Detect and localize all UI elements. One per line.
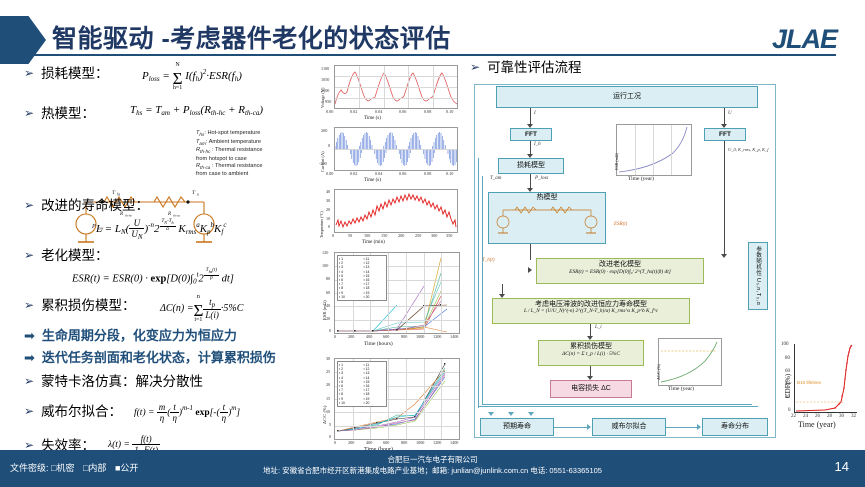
bullet-label: 累积损伤模型： — [41, 298, 136, 313]
inset-chart-xlabel: Time (year) — [628, 176, 654, 182]
edge-label-harmonics: I_h — [534, 142, 541, 147]
edge-label-tam: T_am — [490, 176, 501, 181]
connector — [666, 427, 700, 428]
flow-box-label: 热模型 — [489, 193, 605, 202]
company-name: 合肥巨一汽车电子有限公司 — [0, 454, 865, 465]
bullet-cumulative-damage-model: ➢ 累积损伤模型： — [24, 298, 136, 313]
legend-line-ths: Ths: Hot-spot temperature — [196, 130, 308, 139]
bullet-label: 生命周期分段，化变应力为恒应力 — [42, 328, 237, 343]
chart-plot-area: ▪ 1▪ 11 ▪ 2▪ 12 ▪ 3▪ 13 ▪ 4▪ 14 ▪ 5▪ 15 … — [334, 358, 460, 440]
flow-box-formula: ESR(t) = ESR(0) · exp[D(0)∫₀ᵗ 2^(T_hs(t)… — [537, 269, 703, 275]
esr-chart-legend: ▪ 1▪ 11 ▪ 2▪ 12 ▪ 3▪ 13 ▪ 4▪ 14 ▪ 5▪ 15 … — [337, 255, 387, 301]
formula-loss-model: Ploss = NΣh=1 I(fh)2·ESR(fh) — [142, 62, 242, 91]
bullet-thermal-model: ➢ 热模型： — [24, 106, 95, 121]
page-title: 智能驱动 -考虑器件老化的状态评估 — [52, 19, 451, 55]
cdf-curve — [795, 344, 857, 412]
formula-improved-life: L = LN(UUN)-n2TN-Thα KrmsaKpbKfc — [96, 218, 226, 241]
arrow-head-icon — [528, 267, 532, 273]
flow-box-improved-life-model[interactable]: 考虑电压滞波的改进恒应力寿命模型 L / L_N = (U/U_N)^(-n) … — [492, 298, 690, 324]
bullet-lifecycle-segmentation: ➡ 生命周期分段，化变应力为恒应力 — [24, 328, 237, 343]
flow-box-operating-condition[interactable]: 运行工况 — [496, 86, 758, 108]
flow-box-life-distribution[interactable]: 寿命分布 — [702, 418, 768, 436]
inset-chart-dcc-year — [658, 338, 722, 386]
bullet-label: 老化模型： — [41, 248, 109, 263]
bullet-loss-model: ➢ 损耗模型： — [24, 66, 109, 81]
chart-voltage-waveform: Voltage (V) 1100 1050 1000 950 0.00 0.02… — [312, 62, 462, 124]
chart-cdf-lifetime: CDF(%) B10 lifetime 100 80 60 40 20 0 22 — [780, 340, 860, 440]
flow-box-weibull-fit[interactable]: 威布尔拟合 — [592, 418, 666, 436]
company-logo: JLAE — [772, 24, 837, 55]
bullet-label: 可靠性评估流程 — [487, 60, 582, 75]
title-divider — [28, 54, 836, 56]
chart-esr-degradation: ESR (mΩ) — [312, 248, 464, 352]
connector — [554, 427, 590, 428]
arrow-head-icon — [488, 412, 494, 416]
middle-chart-column: Voltage (V) 1100 1050 1000 950 0.00 0.02… — [312, 62, 464, 450]
bullet-monte-carlo: ➢ 蒙特卡洛仿真：解决分散性 — [24, 374, 203, 389]
inset-chart-ylabel: ESR (mΩ) — [614, 153, 619, 170]
formula-aging-model: ESR(t) = ESR(0) · exp[D(0)∫0t2Ths(t)β dt… — [72, 268, 234, 285]
svg-text:T: T — [112, 190, 116, 196]
flow-box-label: 累积损伤模型 — [539, 343, 643, 351]
title-arrow-shape — [0, 16, 46, 64]
svg-text:T: T — [192, 190, 196, 196]
bullet-marker-icon: ➢ — [470, 60, 480, 75]
chart-plot-area — [334, 127, 458, 171]
flow-box-formula: L / L_N = (U/U_N)^(-n) 2^((T_N-T_h)/α) K… — [493, 309, 689, 315]
legend-line-tam: Tam: Ambient temperature — [196, 139, 308, 148]
bullet-weibull-fit: ➢ 威布尔拟合： — [24, 404, 122, 419]
edge-label-esr-t: ESR(t) — [614, 222, 627, 227]
bullet-label: 迭代任务剖面和老化状态，计算累积损伤 — [42, 350, 276, 365]
slide-footer: 文件密级: □机密 □内部 ■公开 合肥巨一汽车电子有限公司 地址: 安徽省合肥… — [0, 450, 865, 487]
bullet-iterative-mission-profile: ➡ 迭代任务剖面和老化状态，计算累积损伤 — [24, 350, 276, 365]
formula-cumulative-damage: ΔC(n) =nΣi=1tpL(i)·5%C — [160, 294, 243, 323]
flow-box-thermal-model[interactable]: 热模型 — [488, 192, 606, 244]
connector — [530, 244, 531, 260]
svg-text:hs: hs — [117, 193, 121, 197]
slide-header: 智能驱动 -考虑器件老化的状态评估 JLAE — [0, 16, 865, 64]
chart-xlabel: Time (s) — [364, 178, 381, 183]
chart-current-waveform: Current (A) 200 0 -200 0.00 0.02 0.04 0.… — [312, 124, 462, 186]
cdf-annotation: B10 lifetime — [797, 380, 821, 385]
arrow-head-icon — [721, 254, 727, 258]
flow-box-expected-life[interactable]: 预期寿命 — [480, 418, 554, 436]
company-info: 合肥巨一汽车电子有限公司 地址: 安徽省合肥市经开区新港集成电路产业基地；邮箱:… — [0, 454, 865, 476]
thermal-circuit-legend: Ths: Hot-spot temperature Tam: Ambient t… — [196, 130, 308, 179]
formula-thermal-model: Ths = Tam + Ploss(Rth-hc + Rth-ca) — [130, 104, 263, 117]
legend-line-rhc2: from hotspot to case — [196, 156, 308, 163]
svg-text:th-ca: th-ca — [173, 213, 180, 217]
feedback-rail — [482, 404, 752, 405]
edge-label-current: I — [534, 111, 536, 116]
flow-box-formula: ΔC(n) = Σ t_p / L(i) · 5%C — [539, 351, 643, 357]
bullet-improved-life-model: ➢ 改进的寿命模型： — [24, 198, 149, 213]
chart-xlabel: Time (s) — [364, 116, 381, 121]
bullet-label: 威布尔拟合： — [41, 404, 122, 419]
chart-xlabel: Time (year) — [798, 420, 836, 429]
temperature-trace — [335, 190, 457, 232]
flow-box-cumulative-damage[interactable]: 累积损伤模型 ΔC(n) = Σ t_p / L(i) · 5%C — [538, 340, 644, 366]
arrow-head-icon — [508, 412, 514, 416]
chart-xlabel: Time (hours) — [364, 341, 393, 347]
legend-line-rhc: Rth-hc : Thermal resistance — [196, 147, 308, 156]
bullet-marker-icon: ➢ — [24, 198, 34, 213]
left-content-column: ➢ 损耗模型： Ploss = NΣh=1 I(fh)2·ESR(fh) ➢ 热… — [24, 62, 312, 444]
flow-box-parameter-randomness[interactable]: 参数随机性 U₀,n,T₀,α — [748, 242, 768, 310]
chart-plot-area — [334, 65, 458, 109]
chart-plot-area: B10 lifetime — [794, 344, 857, 413]
formula-weibull: f(t) = mη(tη)m-1 exp[-(tη)m] — [134, 402, 240, 424]
bullet-marker-icon: ➢ — [24, 106, 34, 121]
dcc-chart-legend: ▪ 1▪ 11 ▪ 2▪ 12 ▪ 3▪ 13 ▪ 4▪ 14 ▪ 5▪ 15 … — [337, 361, 387, 407]
svg-text:R: R — [167, 212, 171, 217]
legend-line-rca: Rth-ca : Thermal resistance — [196, 163, 308, 172]
arrow-right-icon: ➡ — [24, 350, 35, 365]
inset-chart-esr-year — [616, 124, 692, 176]
inset-esr-curve — [617, 125, 691, 175]
arrow-head-icon — [587, 424, 591, 430]
edge-label-th-t: T_h(t) — [482, 258, 495, 263]
bullet-reliability-process: ➢ 可靠性评估流程 — [470, 60, 582, 75]
bullet-label: 改进的寿命模型： — [41, 198, 149, 213]
bullet-marker-icon: ➢ — [24, 298, 34, 313]
bullet-label: 损耗模型： — [41, 66, 109, 81]
chart-ylabel: Temperature (°C) — [320, 211, 324, 238]
bullet-marker-icon: ➢ — [24, 248, 34, 263]
arrow-right-icon: ➡ — [24, 328, 35, 343]
svg-text:a: a — [197, 193, 199, 197]
chart-temperature-profile: Temperature (°C) 40 30 20 10 0 0 50 100 … — [312, 186, 462, 248]
bullet-label: 热模型： — [41, 106, 95, 121]
arrow-head-icon — [697, 424, 701, 430]
flow-box-improved-aging-model[interactable]: 改进老化模型 ESR(t) = ESR(0) · exp[D(0)∫₀ᵗ 2^(… — [536, 258, 704, 284]
svg-text:th-hc: th-hc — [125, 213, 132, 217]
edge-label-ploss: P_loss — [535, 176, 548, 181]
bullet-marker-icon: ➢ — [24, 404, 34, 419]
inset-chart-xlabel: Time (year) — [668, 386, 694, 392]
feedback-rail — [478, 158, 479, 408]
bullet-marker-icon: ➢ — [24, 374, 34, 389]
chart-plot-area — [334, 189, 458, 233]
edge-label-li: L_i — [595, 325, 602, 330]
bullet-aging-model: ➢ 老化模型： — [24, 248, 109, 263]
bullet-label: 蒙特卡洛仿真：解决分散性 — [41, 374, 203, 389]
flow-box-capacitance-loss[interactable]: 电容损失 ΔC — [550, 380, 632, 398]
edge-label-voltage: U — [728, 111, 732, 116]
feedback-rail — [478, 406, 758, 407]
chart-xlabel: Time (min) — [362, 240, 385, 245]
connector — [724, 141, 725, 256]
arrow-head-icon — [528, 412, 534, 416]
legend-line-rca2: from case to ambient — [196, 171, 308, 178]
flow-box-fft-left[interactable]: FFT — [510, 128, 552, 141]
flow-box-fft-right[interactable]: FFT — [704, 128, 746, 141]
chart-capacitance-loss: ΔC/C (%) — [312, 354, 464, 458]
inset-dcc-curve — [659, 339, 721, 385]
feedback-rail — [482, 176, 483, 404]
flow-box-label: 改进老化模型 — [537, 261, 703, 269]
flow-box-loss-model[interactable]: 损耗模型 — [498, 158, 564, 174]
right-flowchart-column: ➢ 可靠性评估流程 运行工况 I FFT I_h 损耗模型 T_am P_los… — [468, 62, 860, 450]
page-number: 14 — [835, 459, 849, 474]
edge-label-fft-params: U_0, K_rms, K_p, K_f — [728, 146, 769, 153]
chart-plot-area: ▪ 1▪ 11 ▪ 2▪ 12 ▪ 3▪ 13 ▪ 4▪ 14 ▪ 5▪ 15 … — [334, 252, 460, 334]
company-address: 地址: 安徽省合肥市经开区新港集成电路产业基地；邮箱: junlian@junl… — [0, 465, 865, 476]
bullet-marker-icon: ➢ — [24, 66, 34, 81]
inset-chart-ylabel: ΔC/C (%) — [656, 364, 661, 380]
mini-thermal-circuit — [491, 202, 603, 238]
